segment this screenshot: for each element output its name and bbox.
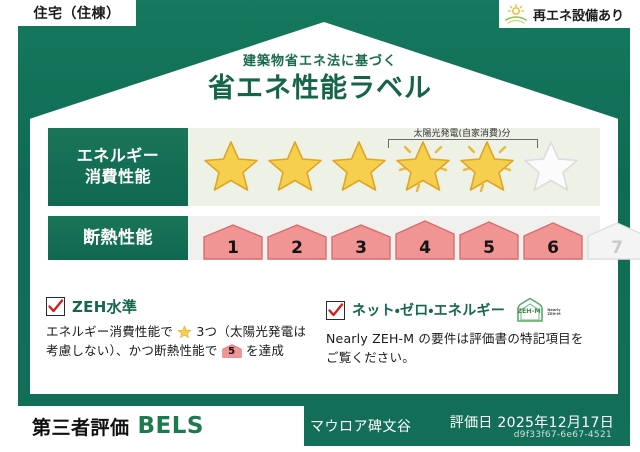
insulation-performance-row: 断熱性能 1 2 3 xyxy=(48,216,600,260)
insulation-chip-label: 1 xyxy=(202,238,264,258)
insulation-chip-on: 6 xyxy=(522,221,584,261)
building-type-tab: 住宅（住棟） xyxy=(18,0,136,26)
insulation-chip-label: 7 xyxy=(586,238,640,258)
bels-evaluation-block: 第三者評価 BELS xyxy=(18,406,304,446)
check-icon xyxy=(47,298,64,315)
insulation-level-chips: 1 2 3 4 xyxy=(202,219,640,261)
insulation-chip-on: 4 xyxy=(394,219,456,261)
svg-text:ZEH-M: ZEH-M xyxy=(548,312,562,316)
zeh-m-title: ネット・ゼロ・エネルギー xyxy=(352,300,505,320)
third-party-label: 第三者評価 xyxy=(32,413,130,440)
star-empty xyxy=(520,134,582,196)
star-filled-solar xyxy=(456,134,518,196)
insulation-key-label: 断熱性能 xyxy=(83,227,153,249)
svg-text:ZEH-M: ZEH-M xyxy=(517,307,540,315)
inline-insulation-chip: 5 xyxy=(222,343,242,359)
zeh-m-header: ネット・ゼロ・エネルギー ZEH-M Nearly ZEH-M xyxy=(326,296,596,324)
star-rating xyxy=(200,134,582,196)
bels-logo-text: BELS xyxy=(138,413,204,439)
energy-performance-label: 住宅（住棟） 再エネ設備あり 建築物省エネ法に基づく 省エネ性能ラベル エネルギ… xyxy=(0,0,640,452)
insulation-performance-key: 断熱性能 xyxy=(48,216,188,260)
performance-panel: エネルギー 消費性能 太陽光発電(自家消費)分 xyxy=(48,128,600,270)
energy-key-line2: 消費性能 xyxy=(85,167,151,188)
zeh-standard-header: ZEH水準 xyxy=(46,296,316,317)
label-title: 省エネ性能ラベル xyxy=(0,66,640,105)
zeh-m-body: Nearly ZEH-M の要件は評価書の特記項目をご覧ください。 xyxy=(326,329,596,368)
building-name: マウロア碑文谷 xyxy=(310,416,412,436)
insulation-chip-on: 5 xyxy=(458,220,520,261)
energy-key-line1: エネルギー xyxy=(77,146,160,167)
insulation-chip-label: 2 xyxy=(266,238,328,258)
zeh-body-part1: エネルギー消費性能で xyxy=(46,324,173,339)
insulation-chip-label: 3 xyxy=(330,238,392,258)
renewable-energy-badge: 再エネ設備あり xyxy=(499,0,632,28)
insulation-chip-label: 5 xyxy=(458,238,520,258)
renewable-badge-label: 再エネ設備あり xyxy=(533,5,624,24)
inline-chip-label: 5 xyxy=(222,344,242,360)
zeh-body-part3: を達成 xyxy=(246,343,284,358)
star-filled xyxy=(200,134,262,196)
check-icon xyxy=(327,302,344,319)
zeh-section: ZEH水準 エネルギー消費性能で 3つ（太陽光発電は考慮しない）、かつ断熱性能で… xyxy=(46,296,606,368)
zeh-standard-block: ZEH水準 エネルギー消費性能で 3つ（太陽光発電は考慮しない）、かつ断熱性能で… xyxy=(46,296,326,368)
star-filled-solar xyxy=(392,134,454,196)
zeh-standard-body: エネルギー消費性能で 3つ（太陽光発電は考慮しない）、かつ断熱性能で 5 を達成 xyxy=(46,322,316,361)
energy-performance-key: エネルギー 消費性能 xyxy=(48,128,188,206)
zeh-standard-checkbox[interactable] xyxy=(46,297,65,316)
insulation-chip-label: 4 xyxy=(394,238,456,258)
insulation-chip-off: 7 xyxy=(586,221,640,261)
zeh-m-block: ネット・ゼロ・エネルギー ZEH-M Nearly ZEH-M Nearly Z… xyxy=(326,296,606,368)
insulation-chip-on: 1 xyxy=(202,223,264,261)
evaluation-date: 評価日 2025年12月17日 xyxy=(450,412,614,432)
zeh-standard-title: ZEH水準 xyxy=(72,296,137,317)
insulation-chip-label: 6 xyxy=(522,238,584,258)
star-filled xyxy=(328,134,390,196)
zeh-m-logo-icon: ZEH-M Nearly ZEH-M xyxy=(512,296,564,324)
star-filled xyxy=(264,134,326,196)
building-type-label: 住宅（住棟） xyxy=(34,3,121,23)
energy-performance-row: エネルギー 消費性能 太陽光発電(自家消費)分 xyxy=(48,128,600,206)
energy-performance-value: 太陽光発電(自家消費)分 xyxy=(188,128,600,206)
sun-icon xyxy=(503,4,529,24)
star-icon xyxy=(177,324,192,339)
insulation-performance-value: 1 2 3 4 xyxy=(188,216,600,260)
insulation-chip-on: 2 xyxy=(266,223,328,261)
document-id: d9f33f67-6e67-4521 xyxy=(514,430,612,440)
insulation-chip-on: 3 xyxy=(330,223,392,261)
zeh-m-checkbox[interactable] xyxy=(326,301,345,320)
label-footer: 第三者評価 BELS マウロア碑文谷 評価日 2025年12月17日 d9f33… xyxy=(18,406,630,446)
